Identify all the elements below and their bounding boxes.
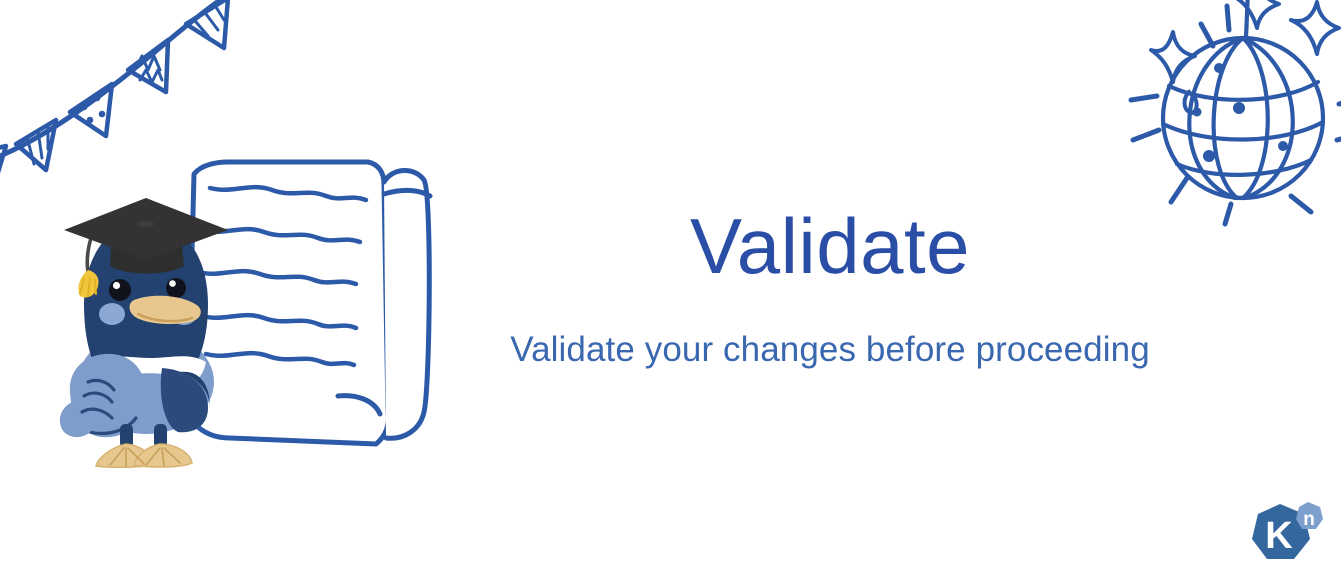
bunting-flag xyxy=(128,40,168,92)
bird-wing-tip xyxy=(60,402,92,437)
graduation-cap xyxy=(64,198,228,274)
sparkle-icon xyxy=(1151,0,1339,82)
bird-beak xyxy=(130,296,201,324)
graduation-cap-tassel xyxy=(78,230,98,298)
certificate-scroll-illustration xyxy=(178,138,468,450)
bird-wing xyxy=(70,354,146,437)
kn-logo[interactable]: K n xyxy=(1248,498,1328,572)
disco-ball-rays xyxy=(1131,6,1341,224)
bird-wing-shadow xyxy=(161,368,208,432)
bird-collar xyxy=(88,356,206,384)
bird-head xyxy=(84,222,208,378)
bird-cheeks xyxy=(99,303,197,325)
bunting-decoration xyxy=(0,0,250,194)
graduate-bird-mascot xyxy=(58,186,238,468)
bird-eyes xyxy=(109,278,186,301)
bunting-flag xyxy=(16,120,56,170)
bird-flank xyxy=(180,372,210,408)
slide-canvas: Validate Validate your changes before pr… xyxy=(0,0,1341,585)
bunting-flag xyxy=(70,84,112,136)
bird-feet xyxy=(96,444,192,467)
page-title: Validate xyxy=(440,206,1220,288)
disco-ball-decoration xyxy=(1115,0,1341,238)
logo-letter-n: n xyxy=(1303,509,1315,530)
bunting-flag xyxy=(186,0,228,48)
bird-legs xyxy=(120,424,167,448)
bunting-flag xyxy=(0,146,6,192)
logo-letter-k: K xyxy=(1265,515,1293,557)
bird-belly xyxy=(78,330,214,434)
slide-text-block: Validate Validate your changes before pr… xyxy=(440,206,1220,371)
page-subtitle: Validate your changes before proceeding xyxy=(440,329,1220,371)
scroll-text-lines xyxy=(198,187,366,365)
disco-ball-speckles xyxy=(1193,63,1289,162)
